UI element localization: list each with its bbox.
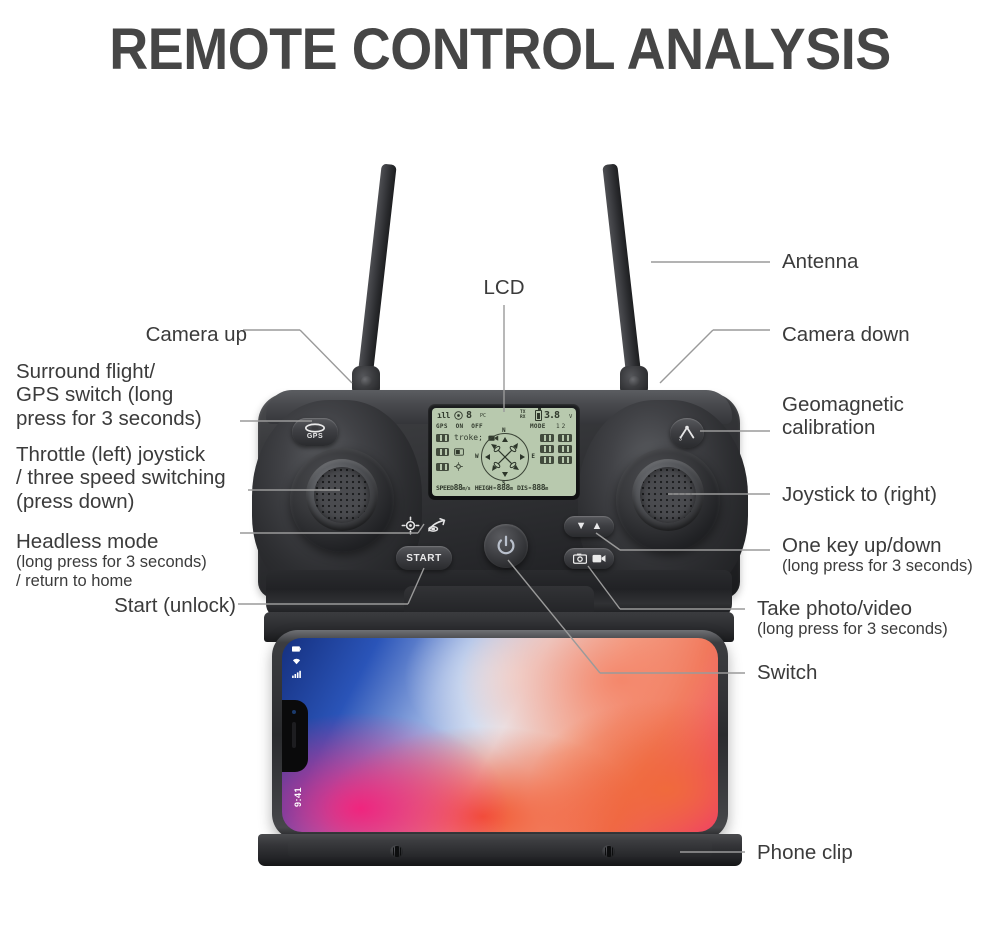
chevron-up-icon[interactable]: ▲ [592, 521, 603, 532]
throttle-joystick-left[interactable] [290, 448, 394, 552]
lcd-dis-value: -888 [528, 483, 546, 492]
lcd-segment-box [436, 463, 449, 471]
lcd-battery-icon [535, 410, 542, 421]
lcd-mode-options: 12 [556, 423, 567, 430]
lcd-segment-box [436, 434, 449, 442]
lcd-segment-box [540, 445, 554, 453]
lcd-signal-bars-icon: ıll [437, 411, 450, 420]
battery-icon [292, 646, 301, 652]
lcd-height-label: HEIGH [475, 484, 493, 492]
callout-phone-clip: Phone clip [757, 841, 957, 864]
remote-control-analysis-diagram: REMOTE CONTROL ANALYSIS ıll 8 PC [0, 0, 1000, 939]
joystick-right-cap[interactable] [632, 459, 704, 531]
antenna-left [358, 164, 397, 374]
power-switch-button[interactable] [484, 524, 528, 568]
phone-clock-time: 9:41 [293, 777, 303, 817]
callout-lcd: LCD [452, 276, 556, 299]
callout-take-photo-video: Take photo/video (long press for 3 secon… [757, 597, 1000, 639]
one-key-up-down-button[interactable]: ▼ ▲ [564, 516, 614, 537]
joystick-right[interactable] [616, 448, 720, 552]
lcd-icon-row-2 [436, 448, 464, 456]
lcd-segment-box [558, 434, 572, 442]
power-icon [494, 534, 518, 558]
callout-joystick-right: Joystick to (right) [782, 483, 997, 506]
lcd-satellite-count: 8 [466, 410, 471, 421]
take-photo-video-button[interactable] [564, 548, 614, 569]
lcd-dis-label: DIS [517, 484, 528, 492]
headless-mode-icon[interactable] [401, 516, 420, 535]
lcd-voltage-unit: V [569, 414, 572, 420]
lcd-height-value: -888 [492, 483, 510, 492]
svg-text:3: 3 [679, 436, 682, 442]
headless-mode-return-home-buttons[interactable] [396, 514, 452, 536]
cellular-signal-icon [292, 670, 301, 678]
lcd-rx-label: RX [520, 415, 525, 420]
camera-video-icon[interactable] [592, 553, 606, 564]
gear-icon [454, 462, 463, 471]
callout-start-unlock: Start (unlock) [40, 594, 236, 617]
lcd-segment-box [558, 445, 572, 453]
compass-direction-markers [476, 428, 534, 486]
satellite-icon [454, 411, 463, 420]
smartphone-screen [282, 638, 718, 832]
callout-one-key-up-down: One key up/down (long press for 3 second… [782, 534, 1000, 576]
lcd-segment-box [540, 434, 554, 442]
chevron-down-icon[interactable]: ▼ [576, 521, 587, 532]
callout-camera-up: Camera up [112, 323, 247, 346]
lcd-status-segment-grid [540, 434, 572, 464]
return-to-home-icon[interactable] [427, 516, 448, 535]
joystick-left-cap[interactable] [306, 459, 378, 531]
start-button-label: START [406, 553, 442, 564]
callout-geomagnetic-calibration: Geomagnetic calibration [782, 393, 997, 440]
lcd-segment-box [558, 456, 572, 464]
lcd-gps-on: ON [456, 423, 464, 430]
gps-button-label: GPS [307, 433, 323, 441]
joystick-left-grip-texture [314, 467, 370, 523]
lcd-tx-rx-labels: TX RX [520, 410, 525, 420]
lcd-gps-label: GPS [436, 423, 448, 430]
lcd-voltage-value: 3.8 [544, 410, 559, 421]
front-camera-icon [292, 710, 296, 714]
callout-surround-flight-gps: Surround flight/ GPS switch (long press … [16, 360, 244, 430]
lcd-dis-unit: m [545, 486, 548, 492]
start-unlock-button[interactable]: START [396, 546, 452, 570]
callout-throttle-joystick: Throttle (left) joystick / three speed s… [16, 443, 256, 513]
lcd-segment-box [436, 448, 449, 456]
wifi-icon [292, 657, 301, 665]
lcd-compass-rose: N S E W [476, 428, 534, 486]
antenna-right [602, 164, 641, 374]
camera-photo-icon[interactable] [573, 553, 587, 564]
lcd-segment-box [540, 456, 554, 464]
lcd-speed-unit: m/s [462, 486, 470, 492]
callout-antenna: Antenna [782, 250, 992, 273]
lcd-telemetry-row: SPEED88m/s HEIGH-888m DIS-888m [436, 483, 548, 492]
callout-camera-down: Camera down [782, 323, 997, 346]
callout-switch: Switch [757, 661, 957, 684]
lcd-mode-2: 2 [562, 423, 568, 430]
lcd-bezel: ıll 8 PC GPS ON OFF TX RX 3.8 V MODE [428, 404, 580, 500]
gps-surround-flight-button[interactable]: GPS [292, 418, 338, 446]
geomagnetic-calibration-button[interactable]: 3 [670, 418, 704, 448]
lcd-satellite-unit: PC [480, 413, 486, 419]
lcd-height-unit: m [510, 486, 513, 492]
earpiece-speaker [292, 722, 296, 748]
lcd-screen: ıll 8 PC GPS ON OFF TX RX 3.8 V MODE [432, 408, 576, 496]
callout-headless-mode: Headless mode (long press for 3 seconds)… [16, 530, 248, 591]
joystick-right-grip-texture [640, 467, 696, 523]
phone-status-icons [292, 646, 301, 678]
phone-clip-bar [288, 840, 712, 857]
lcd-speed-label: SPEED [436, 484, 454, 492]
sd-card-icon [454, 448, 464, 456]
geomagnetic-calibration-icon: 3 [677, 423, 697, 443]
clip-screw-right [602, 845, 615, 858]
clip-screw-left [390, 845, 403, 858]
surround-flight-icon [304, 423, 326, 433]
lcd-icon-row-3 [436, 462, 463, 471]
